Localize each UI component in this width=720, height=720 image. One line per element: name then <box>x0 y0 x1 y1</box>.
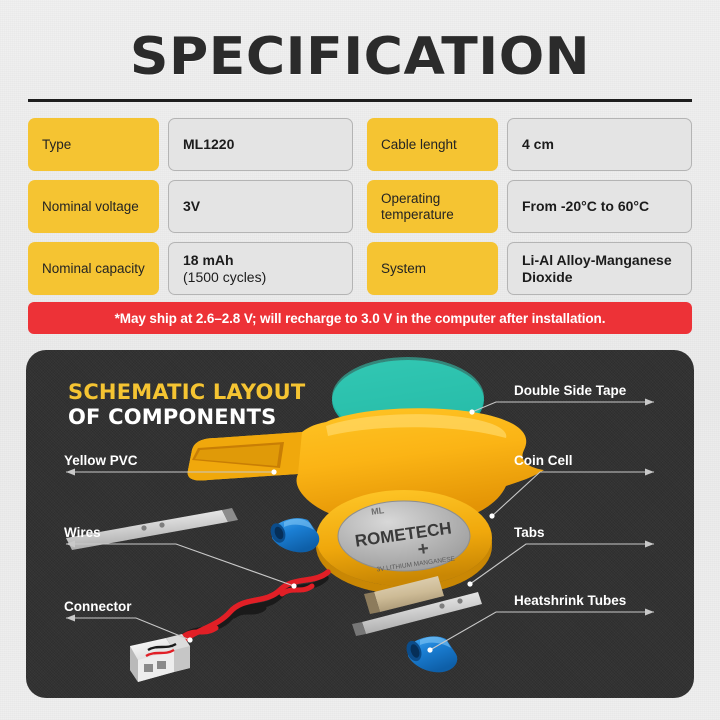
heatshrink-blue-upper-art <box>268 518 319 552</box>
spec-value-main: ML1220 <box>183 136 338 153</box>
callout-label-coin-cell: Coin Cell <box>514 453 573 468</box>
specification-table: Type ML1220 Nominal voltage 3V Nominal c… <box>28 118 692 295</box>
table-row: Cable lenght 4 cm <box>367 118 692 171</box>
spec-label: Nominal voltage <box>28 180 159 233</box>
title-divider <box>28 99 692 102</box>
leader-lines-left <box>66 469 297 643</box>
coin-cell-topmark: ML <box>370 505 385 517</box>
spec-value-main: From -20°C to 60°C <box>522 198 677 215</box>
coin-cell-art: ROMETECH + 3V LITHIUM MANGANESE ML <box>316 490 492 594</box>
spec-value: 18 mAh (1500 cycles) <box>168 242 353 295</box>
spec-value-main: 4 cm <box>522 136 677 153</box>
callout-label-yellow-pvc: Yellow PVC <box>64 453 138 468</box>
callout-label-heatshrink-tubes: Heatshrink Tubes <box>514 593 626 608</box>
callout-label-tabs: Tabs <box>514 525 545 540</box>
spec-value: Li-Al Alloy-Manganese Dioxide <box>507 242 692 295</box>
spec-value-sub: (1500 cycles) <box>183 269 338 286</box>
spec-value: ML1220 <box>168 118 353 171</box>
spec-value: From -20°C to 60°C <box>507 180 692 233</box>
callout-label-connector: Connector <box>64 599 132 614</box>
spec-label: System <box>367 242 498 295</box>
table-row: System Li-Al Alloy-Manganese Dioxide <box>367 242 692 295</box>
spec-label: Operating temperature <box>367 180 498 233</box>
table-row: Nominal voltage 3V <box>28 180 353 233</box>
heatshrink-blue-lower-art <box>404 636 457 672</box>
table-row: Type ML1220 <box>28 118 353 171</box>
spec-value: 3V <box>168 180 353 233</box>
note-text: *May ship at 2.6–2.8 V; will recharge to… <box>115 311 606 326</box>
spec-column-left: Type ML1220 Nominal voltage 3V Nominal c… <box>28 118 353 295</box>
spec-value-main: 18 mAh <box>183 252 338 269</box>
spec-value: 4 cm <box>507 118 692 171</box>
schematic-panel: SCHEMATIC LAYOUT OF COMPONENTS <box>26 350 694 698</box>
spec-value-main: 3V <box>183 198 338 215</box>
spec-column-right: Cable lenght 4 cm Operating temperature … <box>367 118 692 295</box>
wires-art <box>178 572 328 646</box>
table-row: Operating temperature From -20°C to 60°C <box>367 180 692 233</box>
callout-label-double-side-tape: Double Side Tape <box>514 383 626 398</box>
spec-value-main: Li-Al Alloy-Manganese Dioxide <box>522 252 677 286</box>
callout-label-wires: Wires <box>64 525 101 540</box>
connector-art <box>130 634 190 682</box>
shipping-voltage-note: *May ship at 2.6–2.8 V; will recharge to… <box>28 302 692 334</box>
component-illustration: ROMETECH + 3V LITHIUM MANGANESE ML <box>26 350 694 698</box>
spec-label: Nominal capacity <box>28 242 159 295</box>
page-title: SPECIFICATION <box>0 29 720 85</box>
spec-label: Type <box>28 118 159 171</box>
specification-page: SPECIFICATION Type ML1220 Nominal voltag… <box>0 0 720 720</box>
table-row: Nominal capacity 18 mAh (1500 cycles) <box>28 242 353 295</box>
spec-label: Cable lenght <box>367 118 498 171</box>
